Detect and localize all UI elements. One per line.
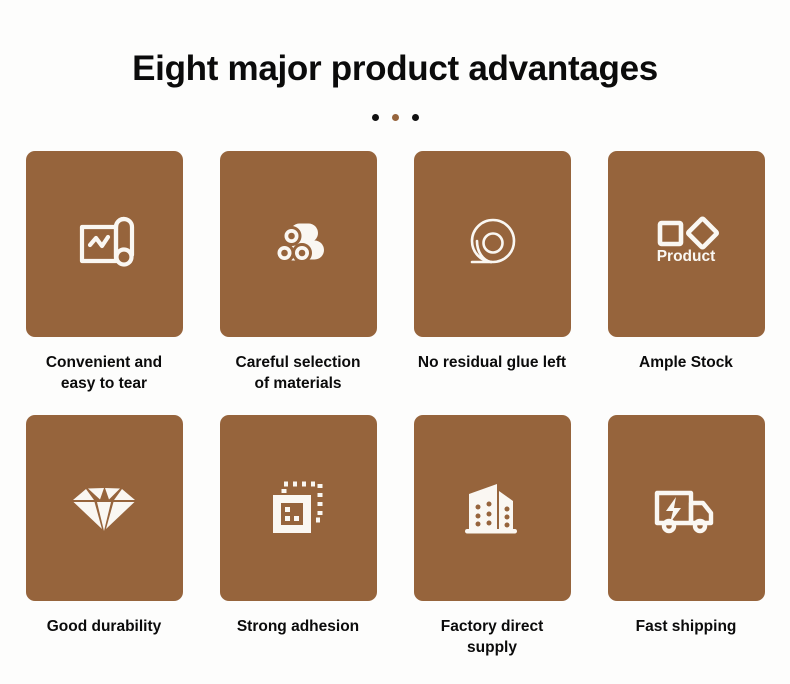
advantage-card-3[interactable]: No residual glue left	[414, 151, 571, 395]
square-diamond-product-icon: Product	[643, 205, 729, 283]
advantage-card-7-label: Factory direct supply	[412, 617, 572, 659]
advantage-card-4-tile[interactable]: Product	[608, 151, 765, 337]
advantage-card-7[interactable]: Factory direct supply	[414, 415, 571, 659]
advantages-row-2: Good durability	[0, 415, 790, 659]
page-title: Eight major product advantages	[0, 48, 790, 90]
advantages-row-1: Convenient and easy to tear	[0, 151, 790, 395]
advantage-card-1[interactable]: Convenient and easy to tear	[26, 151, 183, 395]
dot-1	[372, 114, 379, 121]
advantage-card-1-tile[interactable]	[26, 151, 183, 337]
advantage-card-8-label: Fast shipping	[606, 617, 766, 638]
delivery-truck-bolt-icon	[645, 469, 727, 547]
advantage-card-3-label: No residual glue left	[412, 353, 572, 374]
stacked-rolls-icon	[259, 205, 337, 283]
advantage-card-4[interactable]: Product Ample Stock	[608, 151, 765, 395]
advantage-card-8-tile[interactable]	[608, 415, 765, 601]
advantage-card-6[interactable]: Strong adhesion	[220, 415, 377, 659]
advantage-card-6-tile[interactable]	[220, 415, 377, 601]
dot-3	[412, 114, 419, 121]
advantage-card-2-tile[interactable]	[220, 151, 377, 337]
adhesion-square-dotted-icon	[259, 469, 337, 547]
advantages-grid: Convenient and easy to tear	[0, 151, 790, 659]
advantage-card-8[interactable]: Fast shipping	[608, 415, 765, 659]
advantage-card-6-label: Strong adhesion	[218, 617, 378, 638]
advantage-card-3-tile[interactable]	[414, 151, 571, 337]
blueprint-scroll-icon	[65, 205, 143, 283]
page-header: Eight major product advantages	[0, 0, 790, 121]
dot-2	[392, 114, 399, 121]
advantage-card-1-label: Convenient and easy to tear	[24, 353, 184, 395]
advantages-page: Eight major product advantages	[0, 0, 790, 684]
diamond-gem-icon	[64, 469, 144, 547]
advantage-card-5-tile[interactable]	[26, 415, 183, 601]
advantage-card-5-label: Good durability	[24, 617, 184, 638]
advantage-card-2-label: Careful selection of materials	[218, 353, 378, 395]
factory-building-icon	[453, 469, 531, 547]
advantage-card-2[interactable]: Careful selection of materials	[220, 151, 377, 395]
tape-roll-icon	[453, 205, 531, 283]
dot-separator	[0, 114, 790, 121]
product-icon-text: Product	[657, 248, 716, 265]
advantage-card-7-tile[interactable]	[414, 415, 571, 601]
advantage-card-4-label: Ample Stock	[606, 353, 766, 374]
advantage-card-5[interactable]: Good durability	[26, 415, 183, 659]
